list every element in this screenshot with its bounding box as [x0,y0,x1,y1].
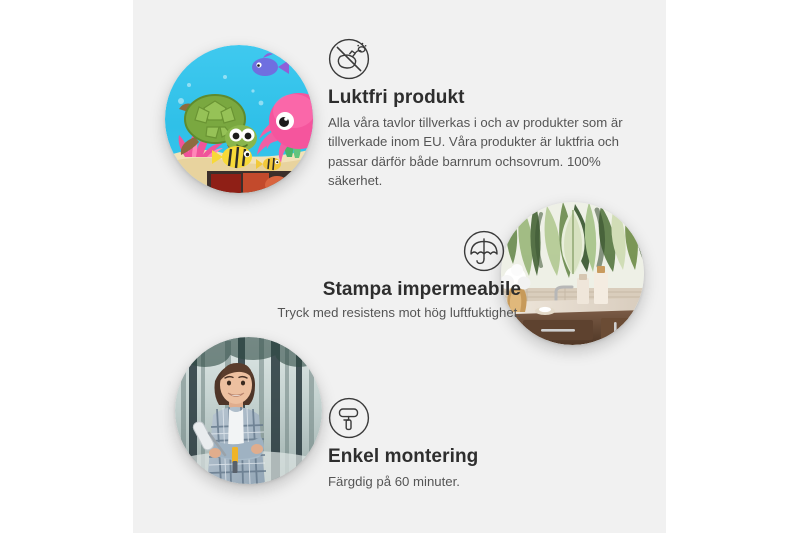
feature-title: Enkel montering [328,446,628,468]
content-canvas: Luktfri produkt Alla våra tavlor tillver… [133,0,666,533]
feature-title: Stampa impermeabile [193,279,521,301]
feature-title: Luktfri produkt [328,87,624,109]
umbrella-icon [463,230,505,272]
feature-block-luktfri-produkt: Luktfri produkt Alla våra tavlor tillver… [328,38,624,191]
bathroom-vanity-photo [501,202,644,345]
screenshot-stage: Luktfri produkt Alla våra tavlor tillver… [0,0,800,533]
no-fragrance-icon [328,38,370,80]
paint-roller-icon [328,397,370,439]
underwater-cartoon-photo [165,45,313,193]
feature-body: Alla våra tavlor tillverkas i och av pro… [328,113,624,191]
feature-body: Färgdig på 60 minuter. [328,472,628,491]
feature-block-stampa-impermeabile: Stampa impermeabile Tryck med resistens … [193,230,521,322]
woman-paint-roller-photo [175,337,322,484]
feature-block-enkel-montering: Enkel montering Färgdig på 60 minuter. [328,397,628,491]
feature-body: Tryck med resistens mot hög luftfuktighe… [193,303,521,322]
